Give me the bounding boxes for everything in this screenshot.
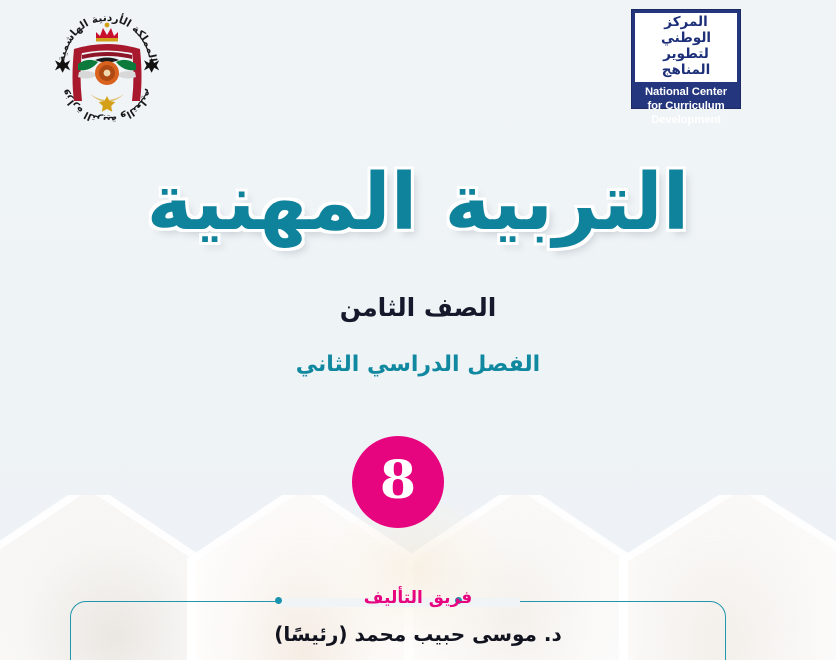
ministry-of-education-emblem-icon: المملكة الأردنية الهاشمية وزارة التربية … [44,6,170,124]
ncd-arabic-line-1: المركز الوطني [637,15,735,47]
ncd-logo-english-text: National Center for Curriculum Developme… [635,82,737,127]
textbook-cover-page: المملكة الأردنية الهاشمية وزارة التربية … [0,0,836,660]
book-title: التربية المهنية [0,163,836,245]
ncd-english-line-3: Development [635,113,737,127]
ncd-logo-arabic-text: المركز الوطني لتطوير المناهج [635,13,737,82]
grade-number-badge: 8 [352,436,444,528]
grade-number-text: 8 [380,455,416,507]
authors-section-label: فريق التأليف [0,588,836,608]
ncd-english-line-1: National Center [635,85,737,99]
semester-label: الفصل الدراسي الثاني [0,352,836,377]
ncd-arabic-line-2: لتطوير المناهج [637,47,735,79]
national-center-for-curriculum-development-logo: المركز الوطني لتطوير المناهج National Ce… [631,9,741,109]
grade-level-label: الصف الثامن [0,293,836,322]
author-name-item: د. موسى حبيب محمد (رئيسًا) [0,622,836,646]
ncd-english-line-2: for Curriculum [635,99,737,113]
